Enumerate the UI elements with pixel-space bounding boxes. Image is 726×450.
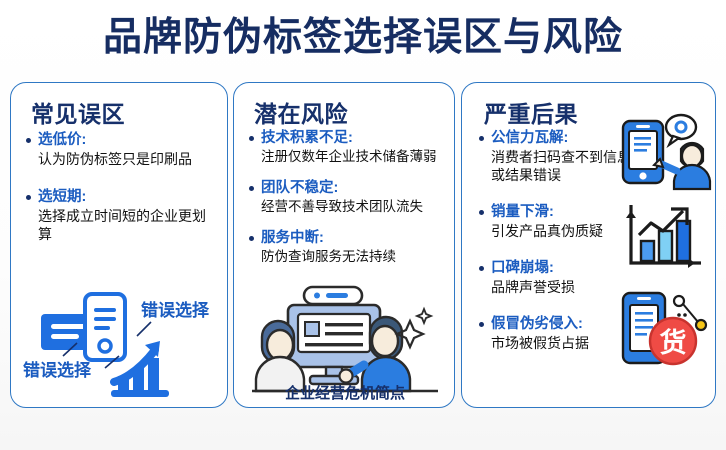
bullet-desc: 消费者扫码查不到信息或结果错误 <box>491 148 633 184</box>
list-item: 公信力瓦解: 消费者扫码查不到信息或结果错误 <box>478 129 633 184</box>
panel-2-heading: 潜在风险 <box>254 95 348 129</box>
panel-potential-risks: 潜在风险 技术积累不足: 注册仅数年企业技术储备薄弱 团队不稳定: 经营不善导致… <box>233 82 455 408</box>
illustration-caption: 企业经营危机简点 <box>234 382 455 403</box>
scan-phone-person-icon <box>619 111 709 193</box>
stamp-label: 货 <box>660 327 687 358</box>
bullet-title: 服务中断: <box>261 229 446 247</box>
page-title: 品牌防伪标签选择误区与风险 <box>0 14 726 62</box>
panel-1-heading: 常见误区 <box>31 95 125 129</box>
panel-2-bullet-list: 技术积累不足: 注册仅数年企业技术储备薄弱 团队不稳定: 经营不善导致技术团队流… <box>248 129 446 279</box>
panel-serious-consequences: 严重后果 公信力瓦解: 消费者扫码查不到信息或结果错误 销量下滑: 引发产品真伪… <box>461 82 716 408</box>
list-item: 团队不稳定: 经营不善导致技术团队流失 <box>248 179 446 216</box>
bullet-title: 团队不稳定: <box>261 179 446 197</box>
bullet-desc: 经营不善导致技术团队流失 <box>261 198 446 216</box>
bullet-title: 销量下滑: <box>491 203 633 221</box>
bullet-desc: 引发产品真伪质疑 <box>491 222 633 240</box>
panel-3-bullet-list: 公信力瓦解: 消费者扫码查不到信息或结果错误 销量下滑: 引发产品真伪质疑 口碑… <box>478 129 633 371</box>
speech-bubble-icon <box>666 115 696 145</box>
list-item: 选短期: 选择成立时间短的企业更划算 <box>25 188 219 243</box>
infographic-page: 品牌防伪标签选择误区与风险 常见误区 选低价: 认为防伪标签只是印刷品 选短期:… <box>0 0 726 450</box>
wrong-choice-label-right: 错误选择 <box>141 300 210 320</box>
panel-3-heading: 严重后果 <box>484 95 578 129</box>
bullet-desc: 注册仅数年企业技术储备薄弱 <box>261 148 446 166</box>
bullet-title: 选低价: <box>38 131 219 149</box>
wrong-choice-label-left: 错误选择 <box>23 360 92 380</box>
list-item: 服务中断: 防伪查询服务无法持续 <box>248 229 446 266</box>
bullet-desc: 市场被假货占据 <box>491 334 633 352</box>
wrong-choice-illustration: 错误选择 错误选择 <box>19 278 223 403</box>
bullet-title: 公信力瓦解: <box>491 129 633 147</box>
bullet-title: 口碑崩塌: <box>491 259 633 277</box>
bullet-title: 选短期: <box>38 188 219 206</box>
rising-bar-chart-icon <box>621 201 707 275</box>
list-item: 假冒伪劣侵入: 市场被假货占据 <box>478 315 633 352</box>
bullet-desc: 品牌声誉受损 <box>491 278 633 296</box>
bullet-desc: 防伪查询服务无法持续 <box>261 248 446 266</box>
panel-1-bullet-list: 选低价: 认为防伪标签只是印刷品 选短期: 选择成立时间短的企业更划算 <box>25 131 219 263</box>
panel-common-mistakes: 常见误区 选低价: 认为防伪标签只是印刷品 选短期: 选择成立时间短的企业更划算 <box>10 82 228 408</box>
list-item: 销量下滑: 引发产品真伪质疑 <box>478 203 633 240</box>
bullet-desc: 认为防伪标签只是印刷品 <box>38 150 216 168</box>
list-item: 选低价: 认为防伪标签只是印刷品 <box>25 131 219 168</box>
list-item: 口碑崩塌: 品牌声誉受损 <box>478 259 633 296</box>
counterfeit-stamp-icon: 货 <box>617 285 709 371</box>
bullet-desc: 选择成立时间短的企业更划算 <box>38 207 216 243</box>
bullet-title: 假冒伪劣侵入: <box>491 315 633 333</box>
bullet-title: 技术积累不足: <box>261 129 446 147</box>
webcam-icon <box>304 287 362 304</box>
list-item: 技术积累不足: 注册仅数年企业技术储备薄弱 <box>248 129 446 166</box>
phone-icon <box>85 294 125 360</box>
